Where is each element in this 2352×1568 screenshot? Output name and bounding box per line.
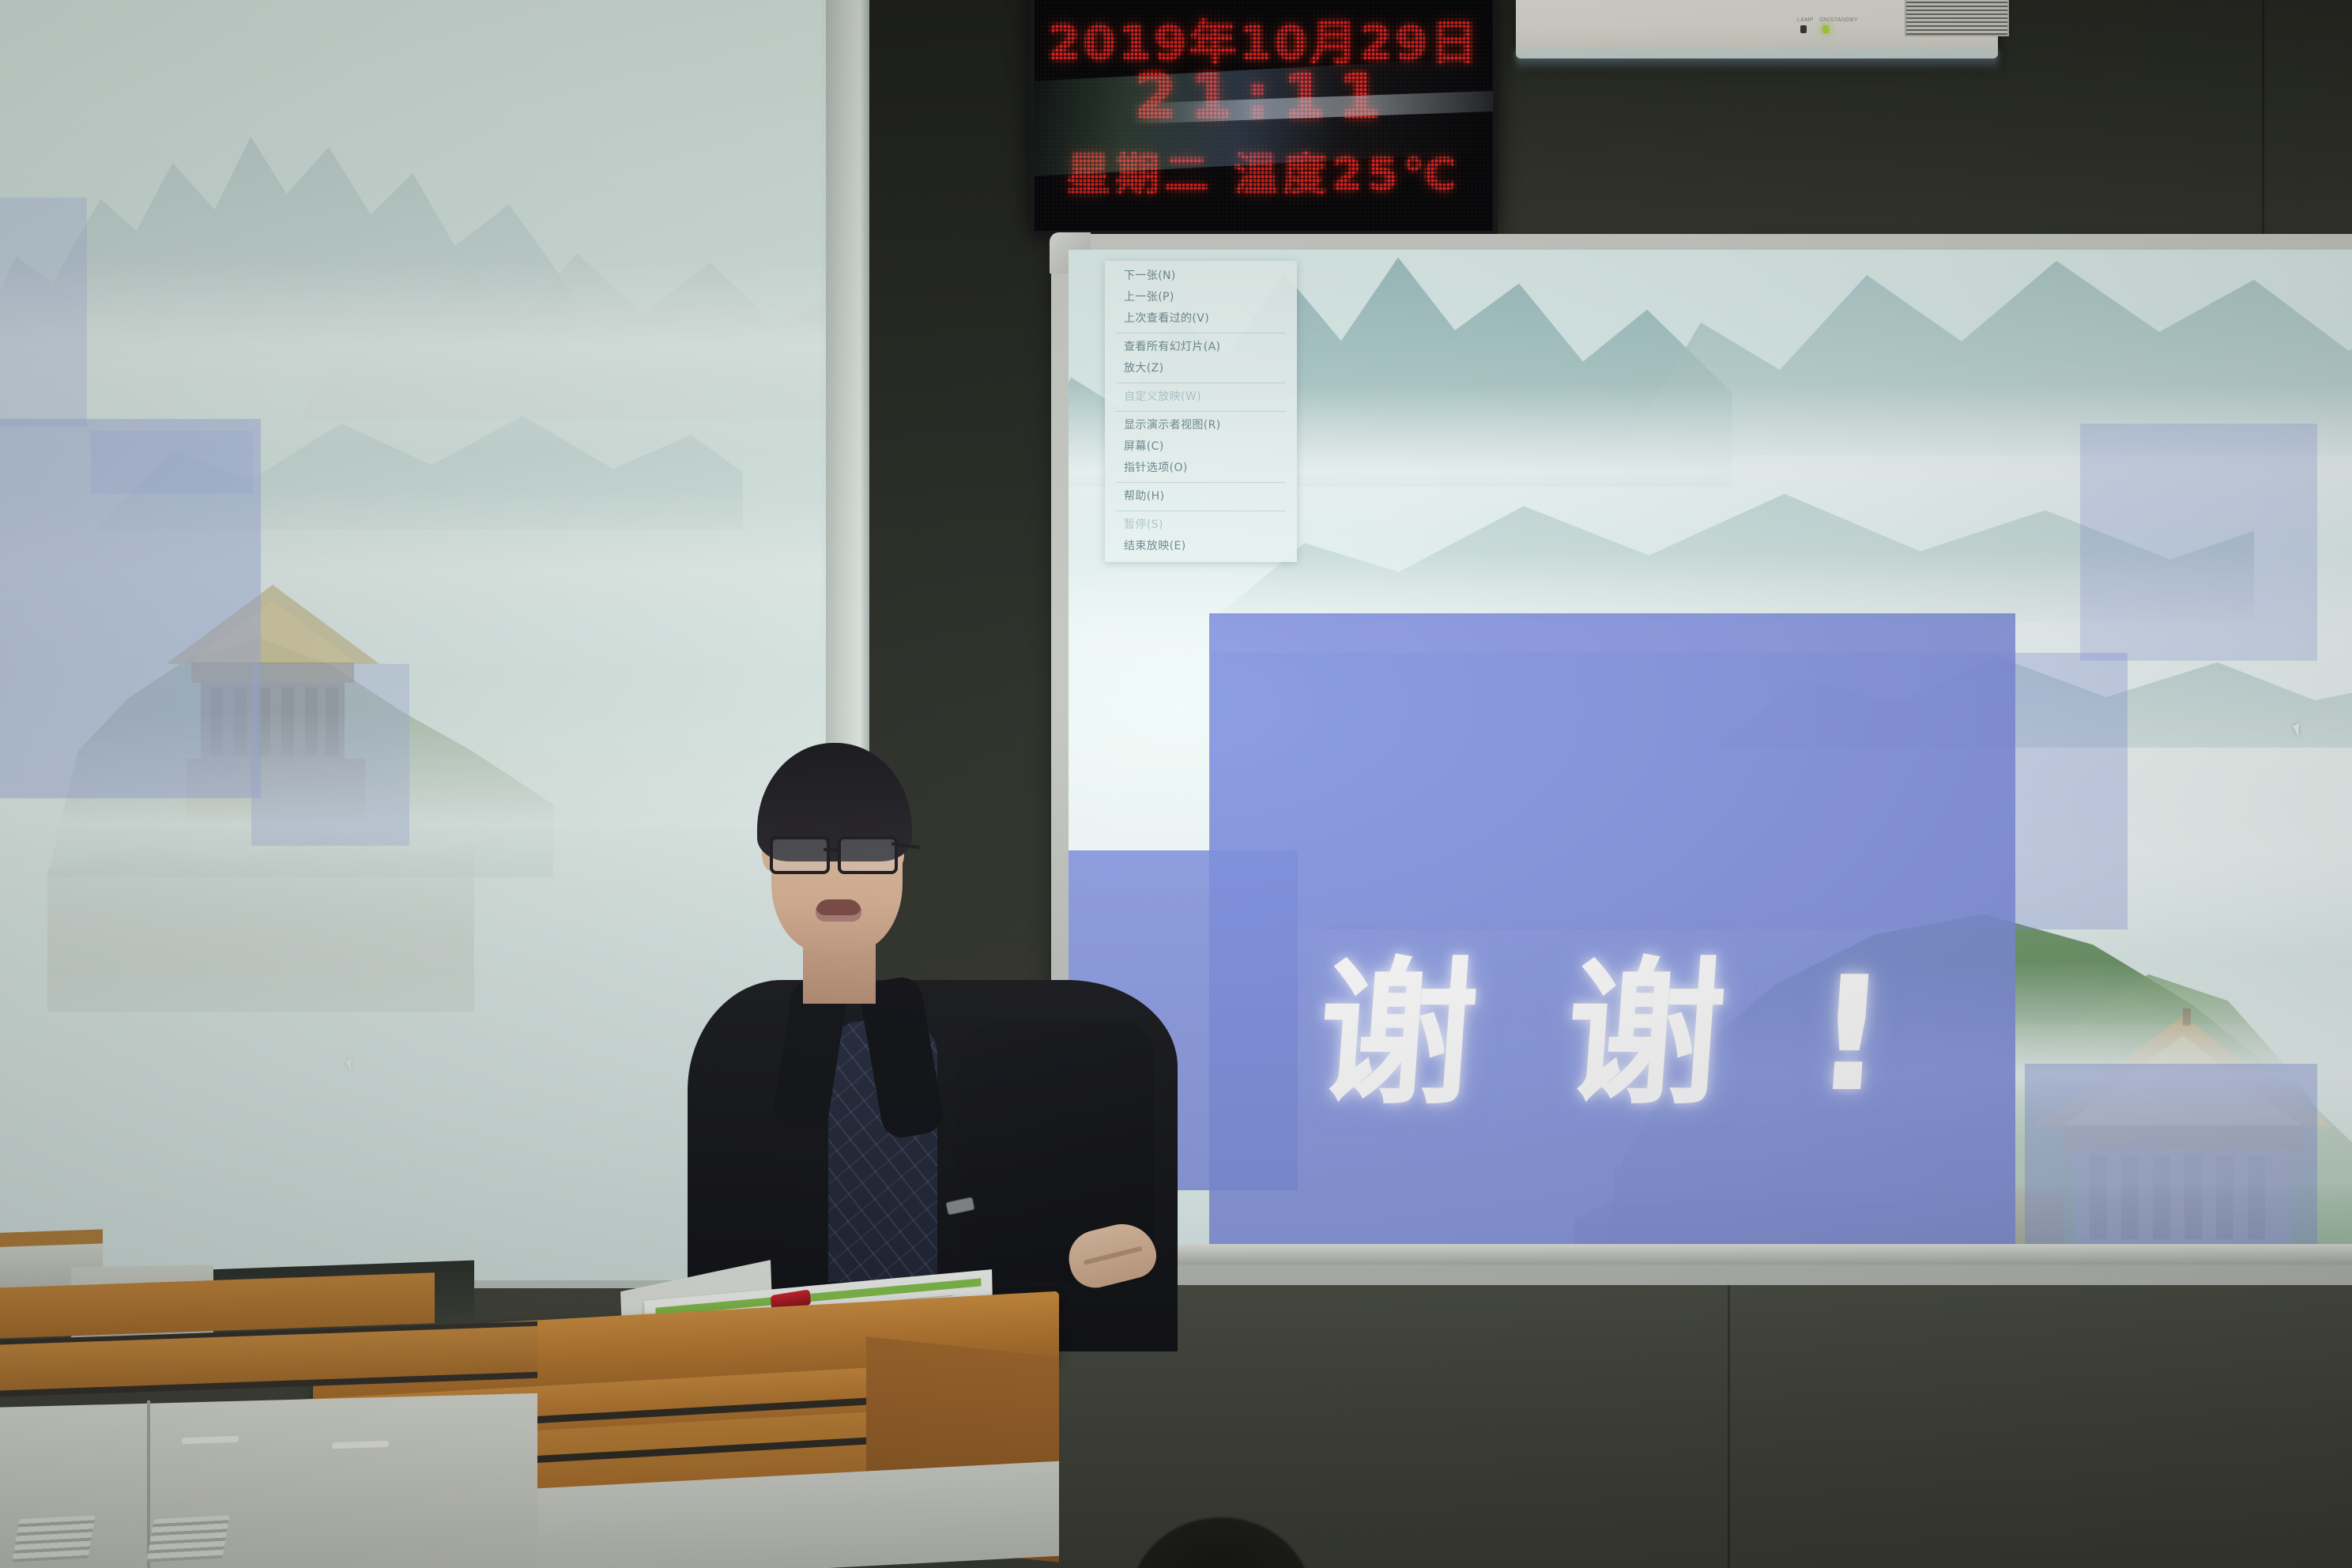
projector-brand-label: SONY [1652, 0, 1724, 5]
lamp-indicator-label: LAMP [1797, 17, 1814, 23]
menu-separator [1116, 333, 1286, 334]
slide-headline: 谢 谢 ! [1197, 850, 2027, 1190]
cabinet-vent [12, 1515, 96, 1562]
menu-item-pointer-options[interactable]: 指针选项(O) [1105, 458, 1297, 479]
lamp-indicator-led [1800, 25, 1807, 33]
ceiling-projector: SONY LAMP ON/STANDBY [1516, 0, 1998, 58]
powerpoint-slide: 谢 谢 ! 下一张(N) 上一张(P) 上次查看过的(V) 查看所有幻灯片(A)… [1069, 250, 2352, 1265]
menu-item-pause: 暂停(S) [1105, 514, 1297, 536]
menu-separator [1116, 383, 1286, 383]
glasses-bridge [824, 848, 838, 851]
lens-left [770, 836, 830, 874]
menu-item-last-viewed[interactable]: 上次查看过的(V) [1105, 308, 1297, 330]
led-time: 21:11 [1035, 62, 1493, 133]
wainscot-seam [1728, 1285, 1730, 1568]
menu-item-next-slide[interactable]: 下一张(N) [1105, 266, 1297, 287]
led-clock-display: 2019年10月29日 21:11 星期二 温度25℃ [1030, 0, 1498, 236]
led-weekday-temp: 星期二 温度25℃ [1035, 139, 1493, 203]
projector-vent-grille [1905, 0, 2009, 36]
menu-item-screen[interactable]: 屏幕(C) [1105, 436, 1297, 458]
menu-separator [1116, 511, 1286, 511]
glasses-icon [765, 836, 910, 869]
menu-item-presenter-view[interactable]: 显示演示者视图(R) [1105, 415, 1297, 436]
projector-light-glow [1516, 51, 1998, 71]
menu-item-zoom-in[interactable]: 放大(Z) [1105, 358, 1297, 379]
presenter [695, 743, 1170, 1344]
decorative-square [2025, 1064, 2317, 1265]
projection-screen: 谢 谢 ! 下一张(N) 上一张(P) 上次查看过的(V) 查看所有幻灯片(A)… [1069, 250, 2352, 1265]
cabinet-vent [146, 1515, 230, 1562]
whiteboard-frame: 谢 谢 ! 下一张(N) 上一张(P) 上次查看过的(V) 查看所有幻灯片(A)… [1051, 234, 2352, 1285]
menu-item-previous-slide[interactable]: 上一张(P) [1105, 287, 1297, 308]
powerpoint-context-menu[interactable]: 下一张(N) 上一张(P) 上次查看过的(V) 查看所有幻灯片(A) 放大(Z)… [1105, 261, 1297, 562]
board-bottom-rail [1069, 1244, 2352, 1265]
menu-separator [1116, 482, 1286, 483]
menu-item-end-show[interactable]: 结束放映(E) [1105, 536, 1297, 557]
screenshot-root: 2019年10月29日 21:11 星期二 温度25℃ SONY LAMP ON… [0, 0, 2352, 1568]
decorative-square [2080, 424, 2317, 661]
equipment-cabinets [0, 1242, 537, 1568]
lens-right [838, 836, 898, 874]
mouth [816, 899, 861, 922]
menu-item-help[interactable]: 帮助(H) [1105, 486, 1297, 507]
standby-indicator-label: ON/STANDBY [1819, 17, 1858, 23]
standby-indicator-led [1822, 25, 1829, 33]
menu-item-see-all-slides[interactable]: 查看所有幻灯片(A) [1105, 337, 1297, 358]
menu-item-custom-show: 自定义放映(W) [1105, 386, 1297, 408]
menu-separator [1116, 411, 1286, 412]
